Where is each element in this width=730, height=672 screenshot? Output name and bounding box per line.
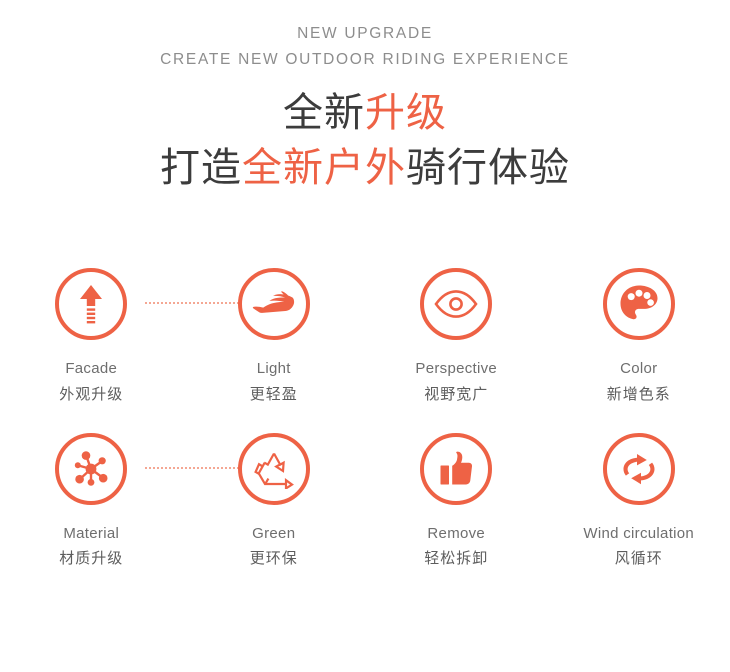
headline-line-2-accent: 全新户外	[242, 146, 406, 190]
icon-circle	[420, 433, 492, 505]
arrow-up-icon	[71, 282, 111, 326]
feather-icon	[251, 287, 297, 321]
feature-label-cn: 风循环	[615, 550, 663, 569]
feature-item-material[interactable]: Material 材质升级	[0, 433, 183, 570]
icon-circle	[55, 268, 127, 340]
icon-circle	[238, 433, 310, 505]
eyebrow-title: NEW UPGRADE	[0, 22, 730, 46]
feature-label-en: Green	[252, 525, 295, 544]
molecule-icon	[70, 448, 112, 490]
eye-icon	[433, 289, 479, 319]
headline-group: 全新升级 打造全新户外骑行体验	[0, 87, 730, 195]
eyebrow-subtitle: CREATE NEW OUTDOOR RIDING EXPERIENCE	[0, 48, 730, 73]
feature-item-remove[interactable]: Remove 轻松拆卸	[365, 433, 548, 570]
feature-item-facade[interactable]: Facade 外观升级	[0, 268, 183, 405]
feature-item-green[interactable]: Green 更环保	[183, 433, 366, 570]
icon-circle	[55, 433, 127, 505]
feature-label-cn: 轻松拆卸	[424, 550, 488, 569]
feature-label-cn: 更环保	[250, 550, 298, 569]
icon-circle	[238, 268, 310, 340]
icon-circle	[420, 268, 492, 340]
feature-label-cn: 外观升级	[59, 386, 123, 405]
headline-line-1-dark: 全新	[283, 91, 365, 135]
circulation-icon	[617, 450, 661, 488]
feature-item-perspective[interactable]: Perspective 视野宽广	[365, 268, 548, 405]
headline-line-1-accent: 升级	[365, 91, 447, 135]
feature-item-wind-circulation[interactable]: Wind circulation 风循环	[548, 433, 730, 570]
headline-line-2: 打造全新户外骑行体验	[0, 142, 730, 195]
headline-line-1: 全新升级	[0, 87, 730, 140]
headline-line-2-dark-start: 打造	[160, 146, 242, 190]
thumbs-up-icon	[435, 448, 477, 490]
feature-label-cn: 材质升级	[59, 550, 123, 569]
banner-header: NEW UPGRADE CREATE NEW OUTDOOR RIDING EX…	[0, 0, 730, 194]
feature-label-en: Facade	[65, 360, 117, 379]
feature-item-color[interactable]: Color 新增色系	[548, 268, 730, 405]
feature-label-en: Perspective	[415, 360, 497, 379]
feature-label-en: Light	[257, 360, 291, 379]
feature-label-en: Remove	[427, 525, 485, 544]
feature-grid: Facade 外观升级 Light 更轻盈	[0, 268, 730, 569]
feature-label-cn: 新增色系	[607, 386, 671, 405]
icon-circle	[603, 268, 675, 340]
feature-item-light[interactable]: Light 更轻盈	[183, 268, 366, 405]
feature-label-en: Material	[63, 525, 119, 544]
headline-line-2-dark-end: 骑行体验	[406, 146, 570, 190]
feature-label-cn: 视野宽广	[424, 386, 488, 405]
icon-circle	[603, 433, 675, 505]
feature-label-en: Wind circulation	[583, 525, 694, 544]
feature-label-en: Color	[620, 360, 657, 379]
feature-row: Material 材质升级 Green	[0, 433, 730, 570]
recycle-icon	[253, 449, 295, 489]
feature-label-cn: 更轻盈	[250, 386, 298, 405]
palette-icon	[618, 283, 660, 325]
feature-row: Facade 外观升级 Light 更轻盈	[0, 268, 730, 405]
